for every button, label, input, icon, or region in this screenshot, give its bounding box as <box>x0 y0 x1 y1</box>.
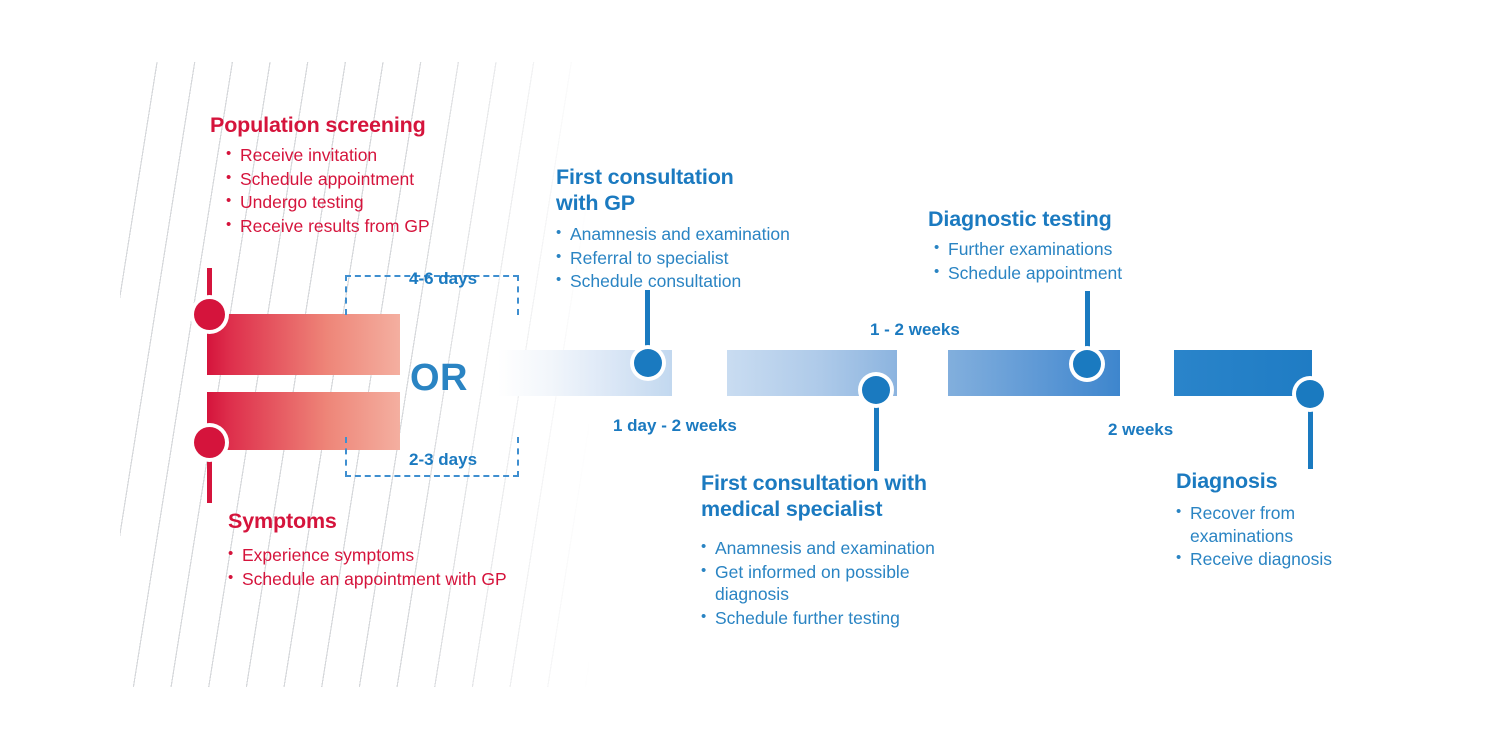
marker-diagnosis[interactable] <box>1296 380 1324 408</box>
stage-population-screening: Population screening Receive invitation … <box>210 112 510 238</box>
marker-first-consultation-gp[interactable] <box>634 349 662 377</box>
stage-title-population-screening: Population screening <box>210 112 510 138</box>
bar-diagnosis <box>1174 350 1312 396</box>
marker-first-consultation-specialist[interactable] <box>862 376 890 404</box>
list-item: Get informed on possible diagnosis <box>701 561 955 606</box>
bar-population-screening <box>207 314 400 375</box>
timeline-diagram: 4-6 days 2-3 days 1 day - 2 weeks 1 - 2 … <box>0 0 1500 750</box>
duration-label-specialist-to-testing: 1 - 2 weeks <box>870 320 960 340</box>
stage-symptoms: Symptoms Experience symptoms Schedule an… <box>228 508 508 591</box>
list-item: Receive diagnosis <box>1176 548 1426 571</box>
stage-items-diagnostic-testing: Further examinations Schedule appointmen… <box>934 238 1208 284</box>
stage-items-population-screening: Receive invitation Schedule appointment … <box>226 144 510 237</box>
marker-diagnostic-testing[interactable] <box>1073 350 1101 378</box>
list-item: Schedule further testing <box>701 607 1001 630</box>
stage-diagnostic-testing: Diagnostic testing Further examinations … <box>928 206 1208 285</box>
list-item: Schedule appointment <box>934 262 1208 285</box>
stage-items-symptoms: Experience symptoms Schedule an appointm… <box>228 544 508 590</box>
list-item: Schedule consultation <box>556 270 856 293</box>
list-item: Receive results from GP <box>226 215 510 238</box>
stage-items-first-consultation-gp: Anamnesis and examination Referral to sp… <box>556 223 856 293</box>
list-item: Anamnesis and examination <box>556 223 856 246</box>
connector-first-consultation-specialist <box>874 393 879 471</box>
stage-title-symptoms: Symptoms <box>228 508 508 534</box>
stage-first-consultation-gp: First consultation with GP Anamnesis and… <box>556 164 856 294</box>
list-item: Referral to specialist <box>556 247 856 270</box>
stage-diagnosis: Diagnosis Recover from examinations Rece… <box>1176 468 1426 572</box>
list-item: Schedule appointment <box>226 168 510 191</box>
list-item: Recover from examinations <box>1176 502 1320 547</box>
list-item: Further examinations <box>934 238 1208 261</box>
connector-diagnosis <box>1308 399 1313 469</box>
marker-symptoms[interactable] <box>194 427 225 458</box>
duration-label-symptoms-to-gp: 2-3 days <box>409 450 477 470</box>
list-item: Undergo testing <box>226 191 510 214</box>
stage-first-consultation-specialist: First consultation with medical speciali… <box>701 470 1001 630</box>
stage-title-diagnosis: Diagnosis <box>1176 468 1426 494</box>
marker-population-screening[interactable] <box>194 299 225 330</box>
duration-label-testing-to-diagnosis: 2 weeks <box>1108 420 1173 440</box>
stage-title-first-consultation-specialist: First consultation with medical speciali… <box>701 470 963 522</box>
list-item: Schedule an appointment with GP <box>228 568 508 591</box>
stage-items-first-consultation-specialist: Anamnesis and examination Get informed o… <box>701 537 1001 629</box>
stage-title-first-consultation-gp: First consultation with GP <box>556 164 761 216</box>
list-item: Receive invitation <box>226 144 510 167</box>
duration-label-screening-to-gp: 4-6 days <box>409 269 477 289</box>
or-label: OR <box>410 357 468 400</box>
list-item: Experience symptoms <box>228 544 508 567</box>
stage-items-diagnosis: Recover from examinations Receive diagno… <box>1176 502 1426 571</box>
list-item: Anamnesis and examination <box>701 537 1001 560</box>
stage-title-diagnostic-testing: Diagnostic testing <box>928 206 1208 232</box>
duration-label-gp-to-specialist: 1 day - 2 weeks <box>613 416 737 436</box>
